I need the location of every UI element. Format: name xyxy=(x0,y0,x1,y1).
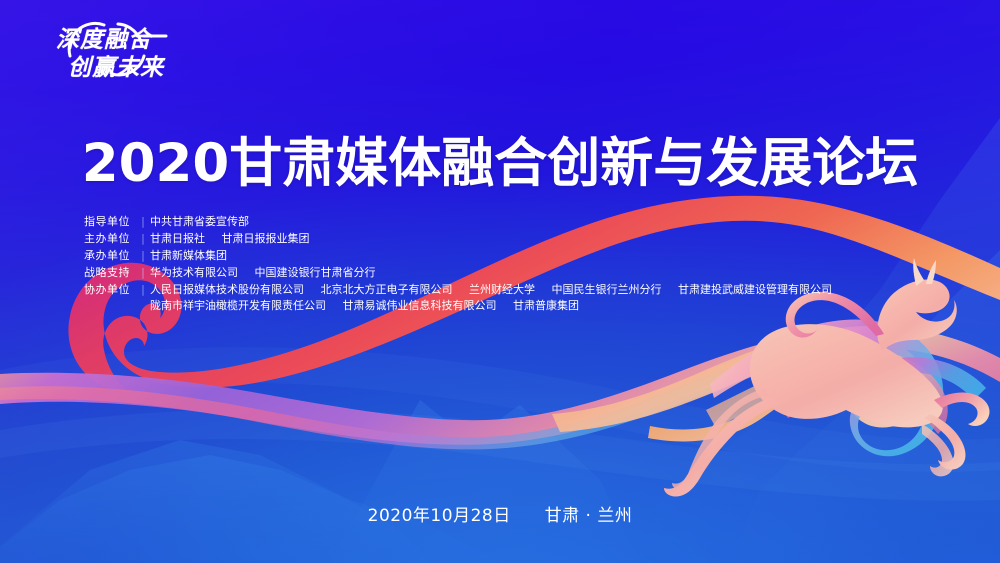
credit-line: 甘肃新媒体集团 xyxy=(150,248,227,264)
event-logo: 深度融合 创赢未来 xyxy=(26,12,194,82)
credit-item: 甘肃建投武威建设管理有限公司 xyxy=(678,283,832,296)
credit-label: 主办单位 xyxy=(84,231,136,247)
credit-item: 甘肃新媒体集团 xyxy=(150,249,227,262)
credit-item: 中国民生银行兰州分行 xyxy=(552,283,662,296)
credit-item: 陇南市祥宇油橄榄开发有限责任公司 xyxy=(150,299,326,312)
credit-line: 华为技术有限公司 中国建设银行甘肃省分行 xyxy=(150,265,376,281)
page-title: 2020甘肃媒体融合创新与发展论坛 xyxy=(0,134,1000,194)
credit-separator: | xyxy=(136,248,150,264)
credit-line: 中共甘肃省委宣传部 xyxy=(150,214,249,230)
credit-row: 主办单位 | 甘肃日报社 甘肃日报报业集团 xyxy=(84,231,832,247)
event-date: 2020年10月28日 xyxy=(368,506,511,526)
credit-label: 指导单位 xyxy=(84,214,136,230)
credit-values: 华为技术有限公司 中国建设银行甘肃省分行 xyxy=(150,265,376,281)
credit-item: 甘肃日报报业集团 xyxy=(222,232,310,245)
credit-row: 承办单位 | 甘肃新媒体集团 xyxy=(84,248,832,264)
credit-separator: | xyxy=(136,231,150,247)
credit-separator: | xyxy=(136,265,150,281)
credit-line: 陇南市祥宇油橄榄开发有限责任公司 甘肃易诚伟业信息科技有限公司 甘肃普康集团 xyxy=(150,298,832,314)
credit-item: 人民日报媒体技术股份有限公司 xyxy=(150,283,304,296)
credit-item: 中共甘肃省委宣传部 xyxy=(150,215,249,228)
credit-separator: | xyxy=(136,214,150,230)
credit-label: 协办单位 xyxy=(84,282,136,298)
event-place: 甘肃 · 兰州 xyxy=(545,506,633,526)
credit-item: 甘肃日报社 xyxy=(150,232,205,245)
credits-block: 指导单位 | 中共甘肃省委宣传部 主办单位 | 甘肃日报社 甘肃日报报业集团 承… xyxy=(84,214,832,315)
credit-label: 战略支持 xyxy=(84,265,136,281)
credit-label: 承办单位 xyxy=(84,248,136,264)
poster-canvas: 深度融合 创赢未来 2020甘肃媒体融合创新与发展论坛 指导单位 | 中共甘肃省… xyxy=(0,0,1000,563)
credit-item: 中国建设银行甘肃省分行 xyxy=(255,266,376,279)
credit-line: 甘肃日报社 甘肃日报报业集团 xyxy=(150,231,310,247)
credit-row: 战略支持 | 华为技术有限公司 中国建设银行甘肃省分行 xyxy=(84,265,832,281)
credit-row: 协办单位 | 人民日报媒体技术股份有限公司 北京北大方正电子有限公司 兰州财经大… xyxy=(84,282,832,314)
footer-info: 2020年10月28日 甘肃 · 兰州 xyxy=(0,501,1000,526)
logo-line-2: 创赢未来 xyxy=(68,48,164,82)
credit-line: 人民日报媒体技术股份有限公司 北京北大方正电子有限公司 兰州财经大学 中国民生银… xyxy=(150,282,832,298)
credit-item: 甘肃易诚伟业信息科技有限公司 xyxy=(343,299,497,312)
credit-item: 甘肃普康集团 xyxy=(513,299,579,312)
credit-item: 华为技术有限公司 xyxy=(150,266,238,279)
credit-values: 人民日报媒体技术股份有限公司 北京北大方正电子有限公司 兰州财经大学 中国民生银… xyxy=(150,282,832,314)
credit-item: 兰州财经大学 xyxy=(469,283,535,296)
credit-values: 中共甘肃省委宣传部 xyxy=(150,214,249,230)
credit-item: 北京北大方正电子有限公司 xyxy=(321,283,453,296)
credit-values: 甘肃新媒体集团 xyxy=(150,248,227,264)
credit-separator: | xyxy=(136,282,150,298)
credit-row: 指导单位 | 中共甘肃省委宣传部 xyxy=(84,214,832,230)
credit-values: 甘肃日报社 甘肃日报报业集团 xyxy=(150,231,310,247)
